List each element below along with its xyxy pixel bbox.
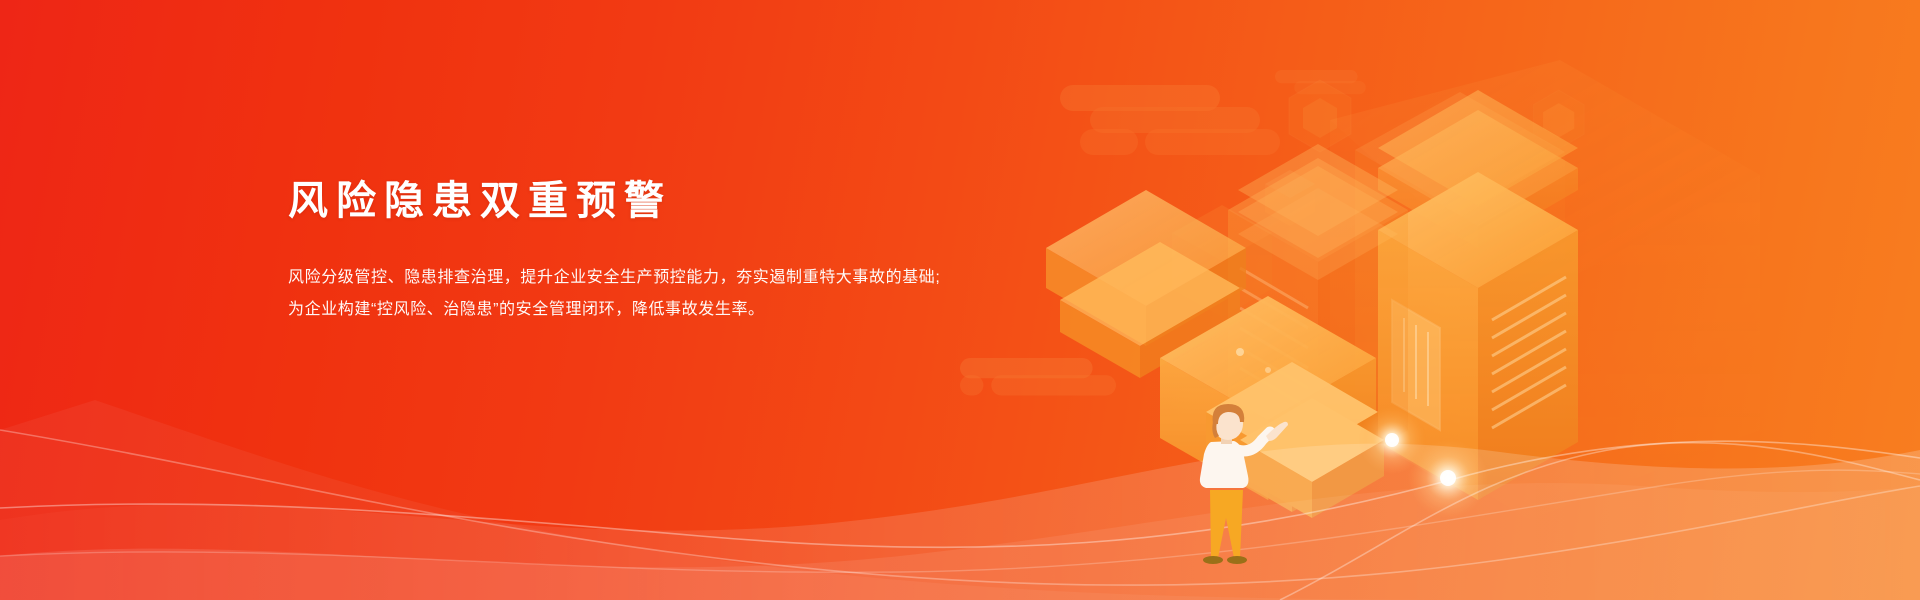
- hero-banner: 风险隐患双重预警 风险分级管控、隐患排查治理，提升企业安全生产预控能力，夯实遏制…: [0, 0, 1920, 600]
- subtitle-line-2: 为企业构建“控风险、治隐患”的安全管理闭环，降低事故发生率。: [288, 294, 1008, 326]
- hero-text-block: 风险隐患双重预警 风险分级管控、隐患排查治理，提升企业安全生产预控能力，夯实遏制…: [288, 176, 1008, 326]
- page-title: 风险隐患双重预警: [288, 176, 1008, 226]
- standing-person-pointing-icon: [1180, 398, 1310, 598]
- hero-subtitle: 风险分级管控、隐患排查治理，提升企业安全生产预控能力，夯实遏制重特大事故的基础;…: [288, 262, 1008, 326]
- subtitle-line-1: 风险分级管控、隐患排查治理，提升企业安全生产预控能力，夯实遏制重特大事故的基础;: [288, 262, 1008, 294]
